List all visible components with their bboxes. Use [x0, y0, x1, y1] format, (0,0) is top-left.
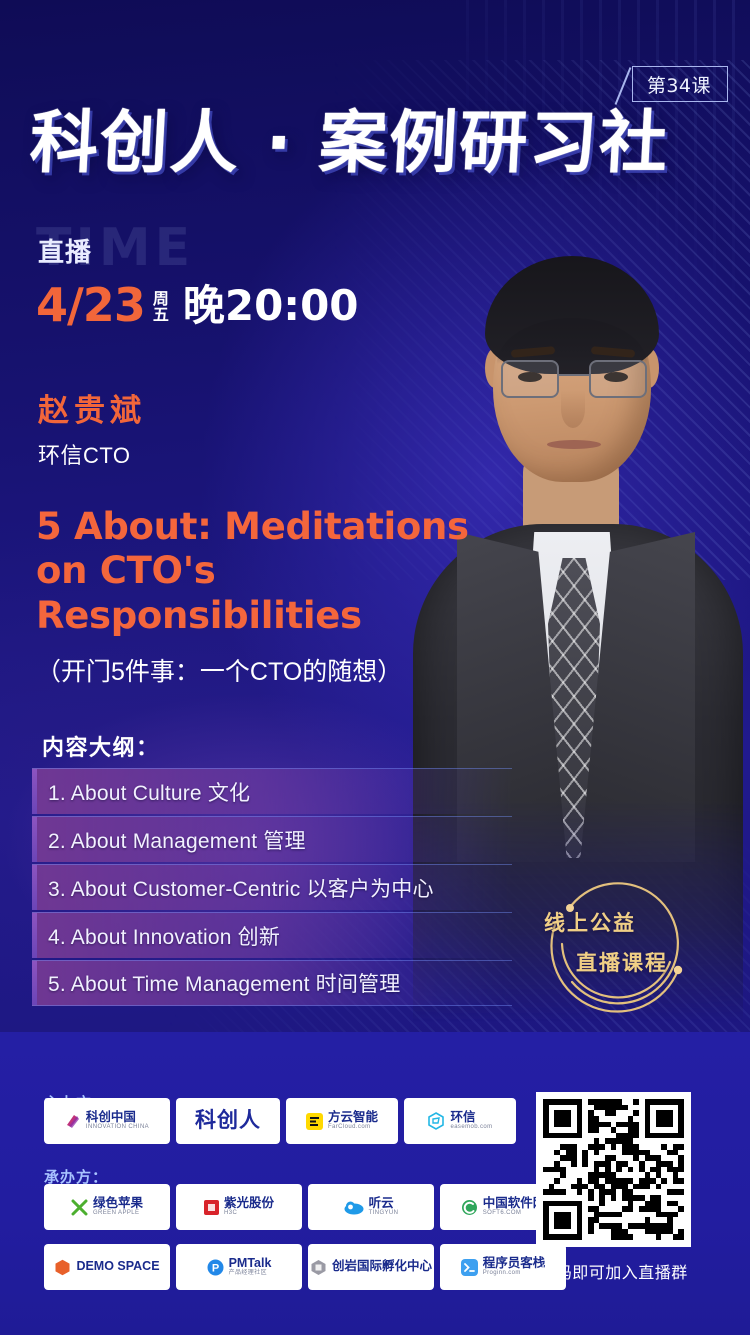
partner-logo-tile: 科创人 — [176, 1098, 280, 1144]
partner-logo-text: 紫光股份H3C — [224, 1197, 274, 1216]
qr-section: 扫码即可加入直播群 — [536, 1092, 691, 1283]
badge-text: 线上公益 直播课程 — [528, 858, 713, 1026]
partner-logo-tile: 绿色苹果GREEN APPLE — [44, 1184, 170, 1230]
portrait-nose — [561, 390, 585, 428]
partner-logo-subtitle: FarCloud.com — [328, 1124, 378, 1130]
speaker-name: 赵贵斌 — [38, 385, 146, 430]
outline-item-label: 1. About Culture 文化 — [48, 777, 250, 807]
partner-logo-tile: DEMO SPACE — [44, 1244, 170, 1290]
outline-item: 1. About Culture 文化 — [32, 768, 512, 814]
partner-logo-tile: PPMTalk产品经理社区 — [176, 1244, 302, 1290]
terminal-icon — [461, 1259, 478, 1276]
online-course-badge: 线上公益 直播课程 — [528, 858, 713, 1026]
grey-diamond-icon — [310, 1259, 327, 1276]
outline-heading: 内容大纲： — [42, 730, 160, 762]
partner-logo-tile: 环信easemob.com — [404, 1098, 516, 1144]
outline-item: 2. About Management 管理 — [32, 816, 512, 862]
partner-logo-subtitle: TINGYUN — [369, 1210, 399, 1216]
partner-logo-name: DEMO SPACE — [76, 1260, 159, 1273]
green-swirl-icon — [461, 1199, 478, 1216]
headline-chinese: （开门5件事：一个CTO的随想） — [36, 652, 402, 688]
partner-logo-name: PMTalk — [229, 1257, 272, 1270]
partner-logo-text: 方云智能FarCloud.com — [328, 1111, 378, 1130]
partner-logo-subtitle: H3C — [224, 1210, 274, 1216]
portrait-glasses-right — [589, 360, 647, 398]
weekday-bottom-char: 五 — [153, 308, 169, 325]
speaker-role: 环信CTO — [38, 438, 131, 470]
partner-logo-tile: 创岩国际孵化中心 — [308, 1244, 434, 1290]
partner-logo-text: 绿色苹果GREEN APPLE — [93, 1197, 143, 1216]
partner-logo-text: PMTalk产品经理社区 — [229, 1257, 272, 1276]
qr-code[interactable] — [536, 1092, 691, 1247]
broadcast-date: 4/23 — [36, 282, 145, 328]
partner-logo-text: 科创人 — [195, 1110, 261, 1132]
badge-line-1: 线上公益 — [544, 907, 713, 937]
outline-item: 3. About Customer-Centric 以客户为中心 — [32, 864, 512, 910]
partner-logo-tile: 科创中国INNOVATION CHINA — [44, 1098, 170, 1144]
partner-logo-subtitle: easemob.com — [450, 1124, 492, 1130]
partner-logo-text: 创岩国际孵化中心 — [332, 1260, 432, 1273]
qr-caption: 扫码即可加入直播群 — [536, 1259, 691, 1283]
poster-canvas: 第34课 科创人 · 案例研习社 TIME 直播 4/23 周 五 晚20:00… — [0, 0, 750, 1335]
portrait-mouth — [547, 440, 601, 449]
weekday-top-char: 周 — [153, 292, 169, 309]
partner-logo-name: 环信 — [450, 1111, 492, 1124]
portrait-glasses-bridge — [559, 374, 589, 376]
green-x-icon — [71, 1199, 88, 1216]
outline-item-label: 5. About Time Management 时间管理 — [48, 968, 400, 998]
partner-logo-name: 绿色苹果 — [93, 1197, 143, 1210]
partner-logo-subtitle: GREEN APPLE — [93, 1210, 143, 1216]
partner-logo-text: DEMO SPACE — [76, 1260, 159, 1273]
partner-logo-tile: 紫光股份H3C — [176, 1184, 302, 1230]
outline-item-label: 3. About Customer-Centric 以客户为中心 — [48, 873, 434, 903]
outline-item-label: 4. About Innovation 创新 — [48, 921, 280, 951]
partner-logo-subtitle: 产品经理社区 — [229, 1270, 272, 1276]
partner-logo-name: 创岩国际孵化中心 — [332, 1260, 432, 1273]
outline-item: 4. About Innovation 创新 — [32, 912, 512, 958]
organizer-logo-row-1: 绿色苹果GREEN APPLE紫光股份H3C听云TINGYUN中国软件网SOFT… — [44, 1184, 566, 1230]
outline-list: 1. About Culture 文化2. About Management 管… — [32, 768, 512, 1008]
yellow-square-icon — [306, 1113, 323, 1130]
outline-item: 5. About Time Management 时间管理 — [32, 960, 512, 1006]
outline-item-label: 2. About Management 管理 — [48, 825, 306, 855]
broadcast-clock: 晚20:00 — [177, 285, 359, 328]
partner-logo-text: 科创中国INNOVATION CHINA — [86, 1111, 149, 1130]
lesson-badge: 第34课 — [632, 66, 728, 102]
host-logo-row: 科创中国INNOVATION CHINA科创人方云智能FarCloud.com环… — [44, 1098, 516, 1144]
partner-logo-text: 环信easemob.com — [450, 1111, 492, 1130]
broadcast-weekday: 周 五 — [153, 292, 169, 328]
blue-p-icon: P — [207, 1259, 224, 1276]
organizer-logo-row-2: DEMO SPACEPPMTalk产品经理社区创岩国际孵化中心程序员客栈Prog… — [44, 1244, 566, 1290]
partner-logo-name: 科创中国 — [86, 1111, 149, 1124]
page-title: 科创人 · 案例研习社 — [28, 108, 671, 179]
broadcast-time-row: 4/23 周 五 晚20:00 — [36, 282, 359, 328]
orange-hex-icon — [54, 1259, 71, 1276]
partner-logo-name: 科创人 — [195, 1110, 261, 1132]
ribbon-icon — [65, 1113, 81, 1129]
partner-logo-name: 紫光股份 — [224, 1197, 274, 1210]
partner-logo-name: 方云智能 — [328, 1111, 378, 1124]
portrait-glasses-left — [501, 360, 559, 398]
svg-text:P: P — [211, 1262, 218, 1274]
blue-cloud-icon — [344, 1200, 364, 1215]
red-box-icon — [204, 1200, 219, 1215]
partner-logo-tile: 听云TINGYUN — [308, 1184, 434, 1230]
headline-english: 5 About: Meditations on CTO's Responsibi… — [36, 505, 506, 638]
partner-logo-text: 听云TINGYUN — [369, 1197, 399, 1216]
badge-line-2: 直播课程 — [576, 947, 713, 977]
partner-logo-subtitle: INNOVATION CHINA — [86, 1124, 149, 1130]
partner-logo-name: 听云 — [369, 1197, 399, 1210]
cyan-hex-icon — [427, 1112, 445, 1130]
live-label: 直播 — [38, 232, 92, 269]
partner-logo-tile: 方云智能FarCloud.com — [286, 1098, 398, 1144]
